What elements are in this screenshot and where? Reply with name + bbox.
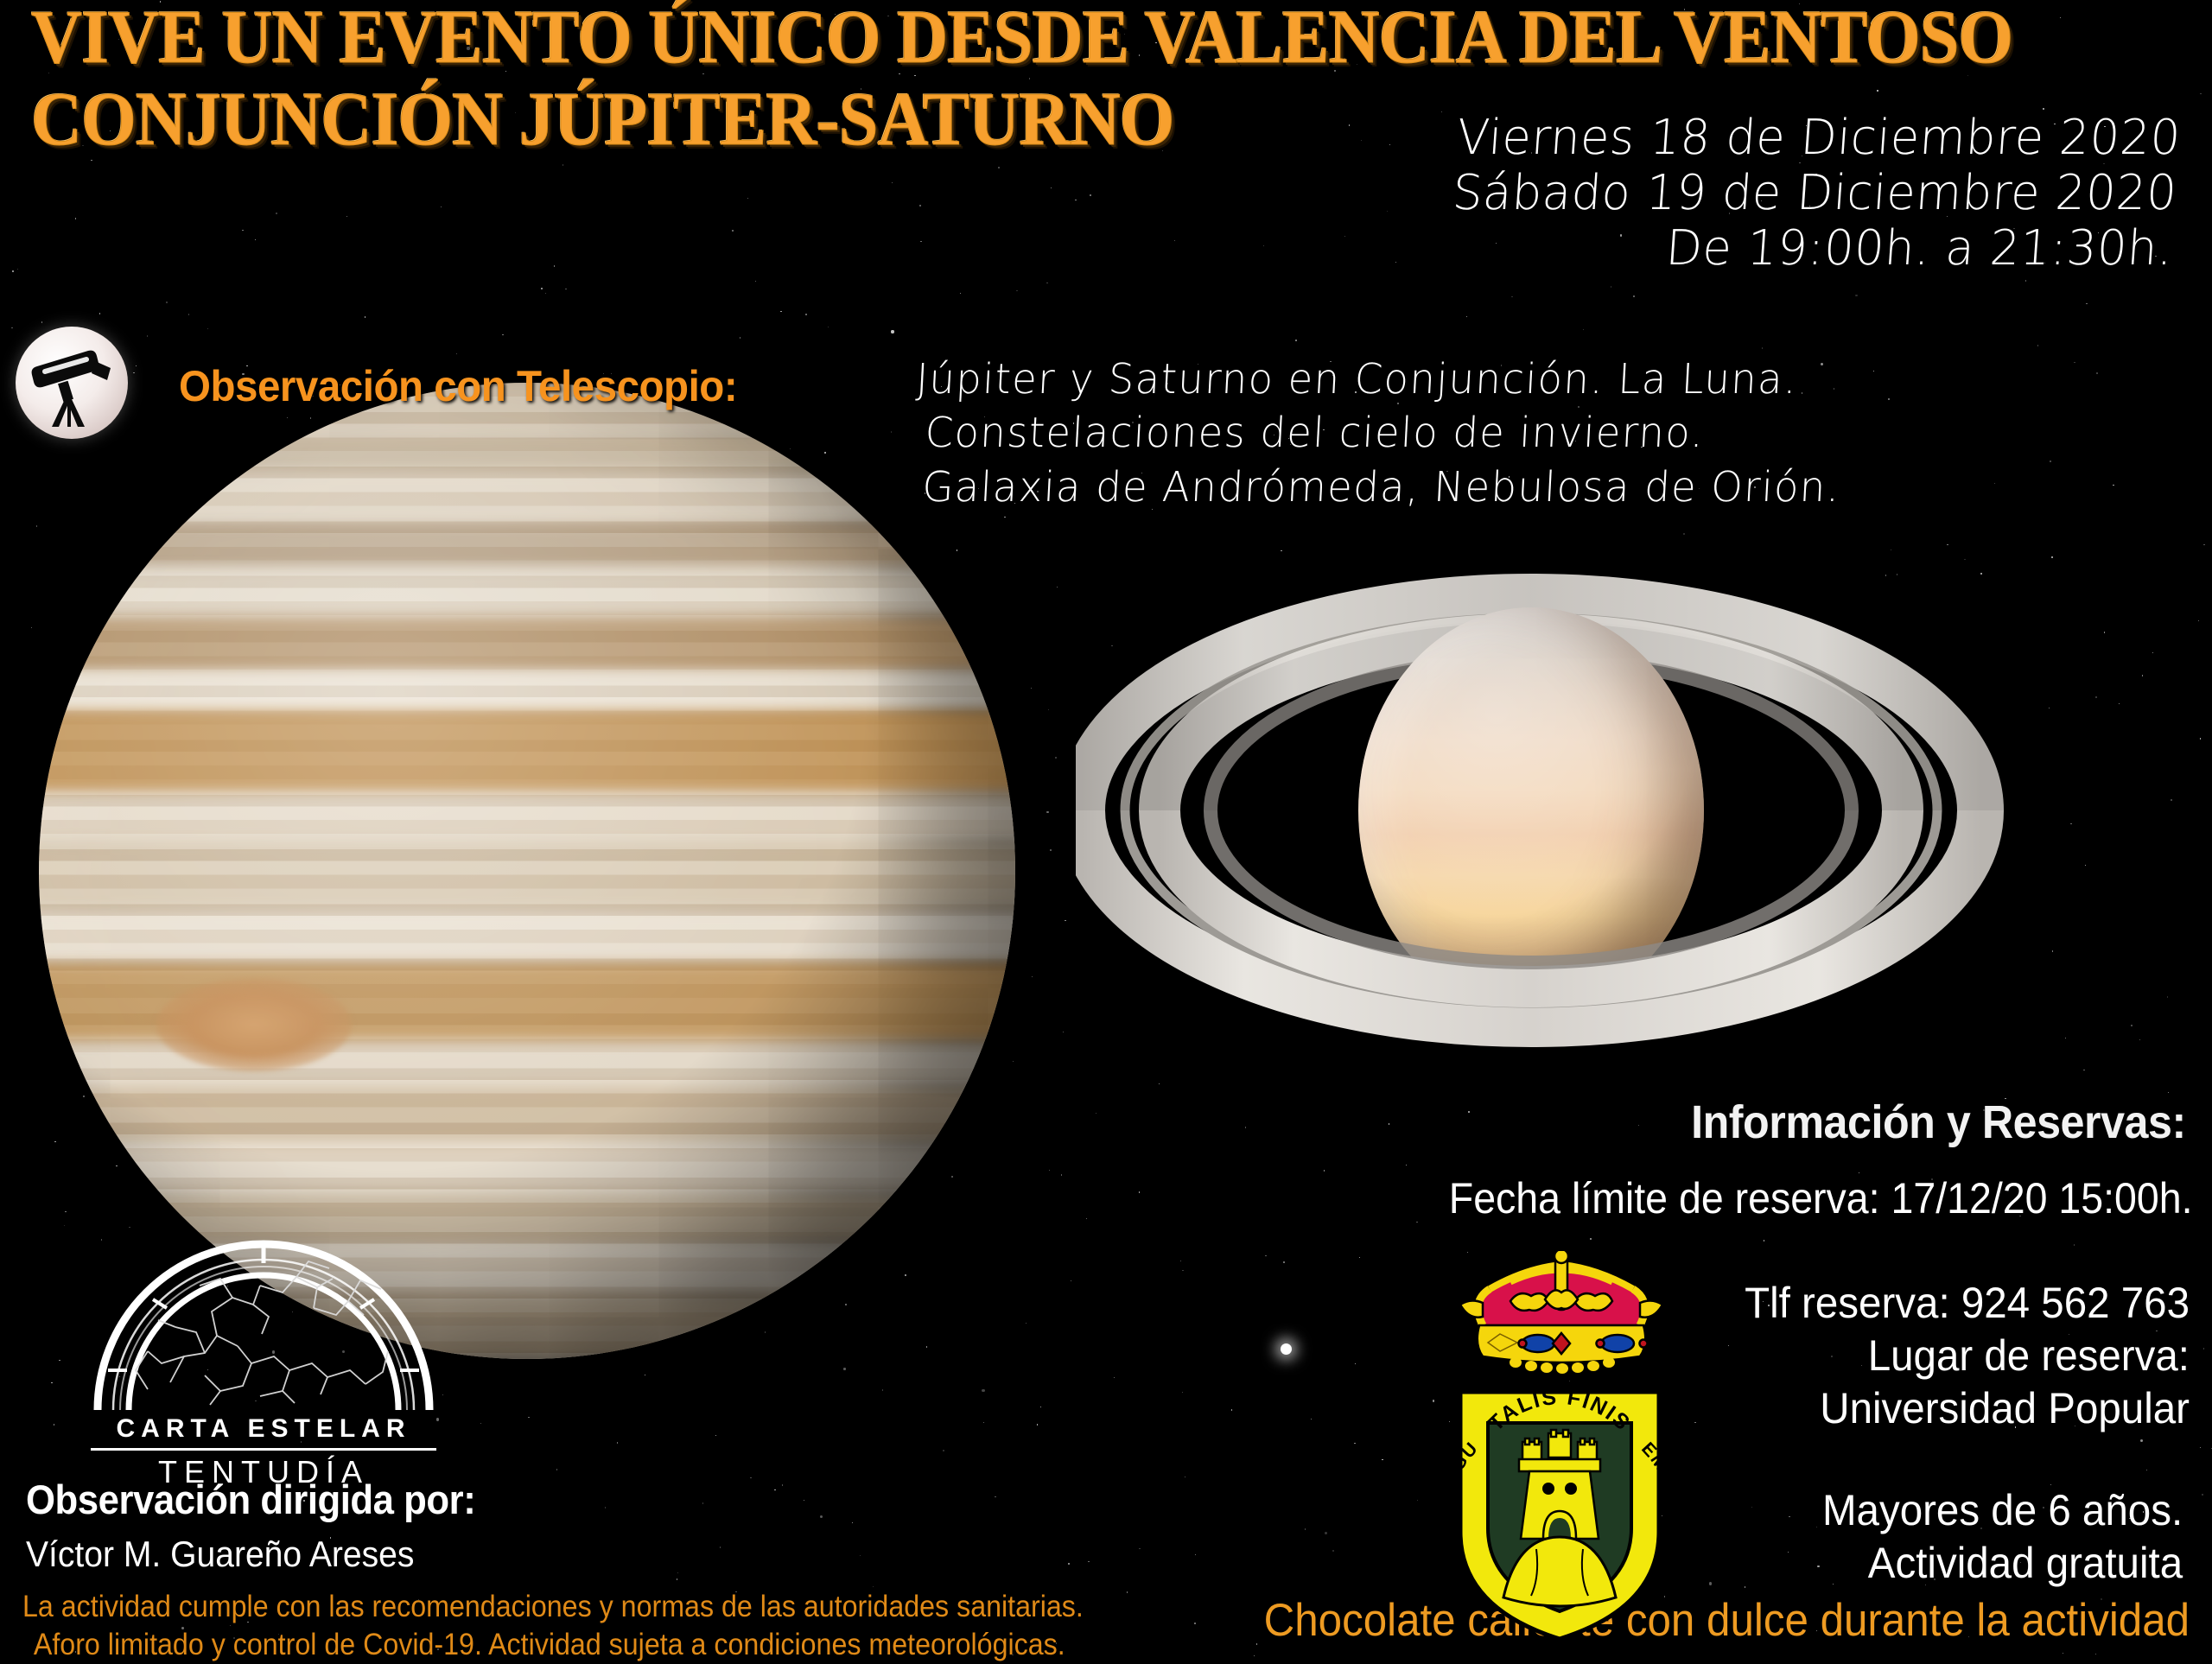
disclaimer-line-2: Aforo limitado y control de Covid-19. Ac… bbox=[22, 1626, 1084, 1664]
bright-star bbox=[1281, 1343, 1292, 1355]
telescope-glyph bbox=[28, 337, 116, 429]
observation-heading: Observación con Telescopio: bbox=[179, 361, 737, 411]
minimum-age: Mayores de 6 años. bbox=[1822, 1484, 2183, 1537]
saturn-image bbox=[1076, 540, 2018, 1093]
reservation-place-label: Lugar de reserva: bbox=[1745, 1330, 2190, 1382]
disclaimer-line-1: La actividad cumple con las recomendacio… bbox=[22, 1588, 1084, 1626]
valencia-del-ventoso-coat-of-arms: TALIS FINIS TERMINUS AUGUS EMERITENSIUM bbox=[1453, 1385, 1666, 1644]
observation-target-1: Júpiter y Saturno en Conjunción. La Luna… bbox=[915, 352, 1847, 406]
jupiter-image bbox=[39, 383, 1015, 1359]
directed-by-block: Observación dirigida por: Víctor M. Guar… bbox=[26, 1476, 509, 1575]
jupiter-shading bbox=[39, 383, 1015, 1359]
age-and-price: Mayores de 6 años. Actividad gratuita bbox=[1822, 1484, 2183, 1590]
event-time-range: De 19:00h. a 21:30h. bbox=[1447, 221, 2175, 276]
poster-title-line-1: VIVE UN EVENTO ÚNICO DESDE VALENCIA DEL … bbox=[31, 3, 2012, 73]
star-dome-icon bbox=[91, 1225, 436, 1415]
reservation-contact: Tlf reserva: 924 562 763 Lugar de reserv… bbox=[1745, 1277, 2190, 1435]
event-dates: Viernes 18 de Diciembre 2020 Sábado 19 d… bbox=[1447, 111, 2183, 276]
observation-targets: Júpiter y Saturno en Conjunción. La Luna… bbox=[909, 352, 1847, 514]
saturn-rings-front bbox=[1076, 540, 2018, 1093]
chocolate-note: Chocolate caliente con dulce durante la … bbox=[1264, 1594, 2190, 1647]
royal-crown-icon bbox=[1448, 1251, 1675, 1381]
event-date-saturday: Sábado 19 de Diciembre 2020 bbox=[1451, 166, 2178, 221]
activity-price: Actividad gratuita bbox=[1822, 1537, 2183, 1590]
observation-target-3: Galaxia de Andrómeda, Nebulosa de Orión. bbox=[909, 460, 1841, 514]
directed-by-name: Víctor M. Guareño Areses bbox=[26, 1534, 475, 1575]
reservation-deadline: Fecha límite de reserva: 17/12/20 15:00h… bbox=[1449, 1173, 2193, 1223]
info-reservations-heading: Información y Reservas: bbox=[1691, 1096, 2186, 1149]
covid-disclaimer: La actividad cumple con las recomendacio… bbox=[22, 1588, 1084, 1664]
directed-by-heading: Observación dirigida por: bbox=[26, 1476, 475, 1523]
telescope-icon bbox=[16, 327, 128, 439]
carta-logo-divider bbox=[91, 1448, 436, 1451]
event-date-friday: Viernes 18 de Diciembre 2020 bbox=[1455, 111, 2183, 166]
carta-logo-line-1: CARTA ESTELAR bbox=[91, 1414, 436, 1444]
reservation-place-value: Universidad Popular bbox=[1745, 1382, 2190, 1435]
carta-estelar-logo: CARTA ESTELAR TENTUDÍA bbox=[91, 1225, 436, 1490]
reservation-phone[interactable]: Tlf reserva: 924 562 763 bbox=[1745, 1277, 2190, 1330]
observation-target-2: Constelaciones del cielo de invierno. bbox=[912, 406, 1844, 460]
